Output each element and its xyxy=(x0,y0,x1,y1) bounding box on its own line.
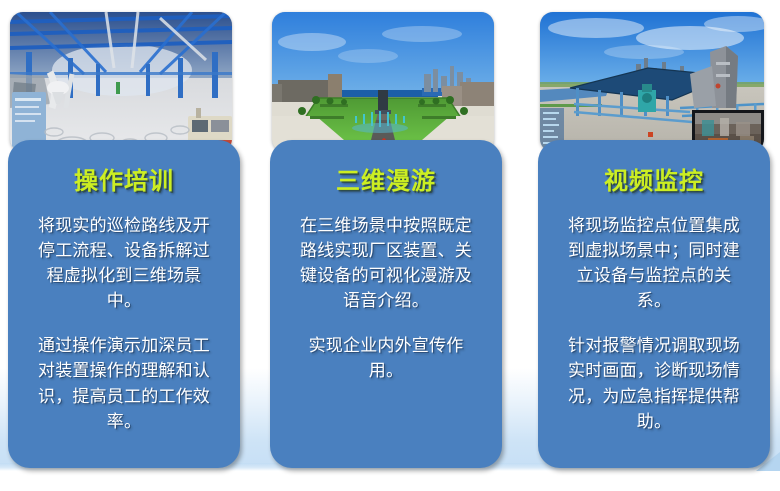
card-text-panel: 视频监控 将现场监控点位置集成到虚拟场景中；同时建立设备与监控点的关系。 针对报… xyxy=(538,140,770,468)
feature-cards-slide: 操作培训 将现实的巡检路线及开停工流程、设备拆解过程虚拟化到三维场景中。 通过操… xyxy=(0,0,780,491)
card-text-panel: 操作培训 将现实的巡检路线及开停工流程、设备拆解过程虚拟化到三维场景中。 通过操… xyxy=(8,140,240,468)
card-text-panel: 三维漫游 在三维场景中按照既定路线实现厂区装置、关键设备的可视化漫游及语音介绍。… xyxy=(270,140,502,468)
feature-card-three-dimensional-roaming[interactable]: 三维漫游 在三维场景中按照既定路线实现厂区装置、关键设备的可视化漫游及语音介绍。… xyxy=(270,0,502,470)
card-title: 操作培训 xyxy=(22,168,226,196)
card-title: 三维漫游 xyxy=(284,168,488,196)
plant-piperack-with-video-monitor-inset-3d-scene-image xyxy=(540,12,764,152)
card-paragraph-1: 在三维场景中按照既定路线实现厂区装置、关键设备的可视化漫游及语音介绍。 xyxy=(284,214,488,315)
card-paragraph-2: 针对报警情况调取现场实时画面，诊断现场情况，为应急指挥提供帮助。 xyxy=(552,334,756,435)
card-title: 视频监控 xyxy=(552,168,756,196)
card-paragraph-1: 将现实的巡检路线及开停工流程、设备拆解过程虚拟化到三维场景中。 xyxy=(22,214,226,315)
plant-exterior-lawn-fountain-3d-scene-image xyxy=(272,12,494,152)
feature-card-operation-training[interactable]: 操作培训 将现实的巡检路线及开停工流程、设备拆解过程虚拟化到三维场景中。 通过操… xyxy=(8,0,240,470)
card-paragraph-2: 通过操作演示加深员工对装置操作的理解和认识，提高员工的工作效率。 xyxy=(22,334,226,435)
feature-card-video-surveillance[interactable]: 视频监控 将现场监控点位置集成到虚拟场景中；同时建立设备与监控点的关系。 针对报… xyxy=(532,0,764,470)
plant-interior-pipes-3d-scene-image xyxy=(10,12,232,152)
card-paragraph-1: 将现场监控点位置集成到虚拟场景中；同时建立设备与监控点的关系。 xyxy=(552,214,756,315)
card-paragraph-2: 实现企业内外宣传作用。 xyxy=(284,334,488,384)
